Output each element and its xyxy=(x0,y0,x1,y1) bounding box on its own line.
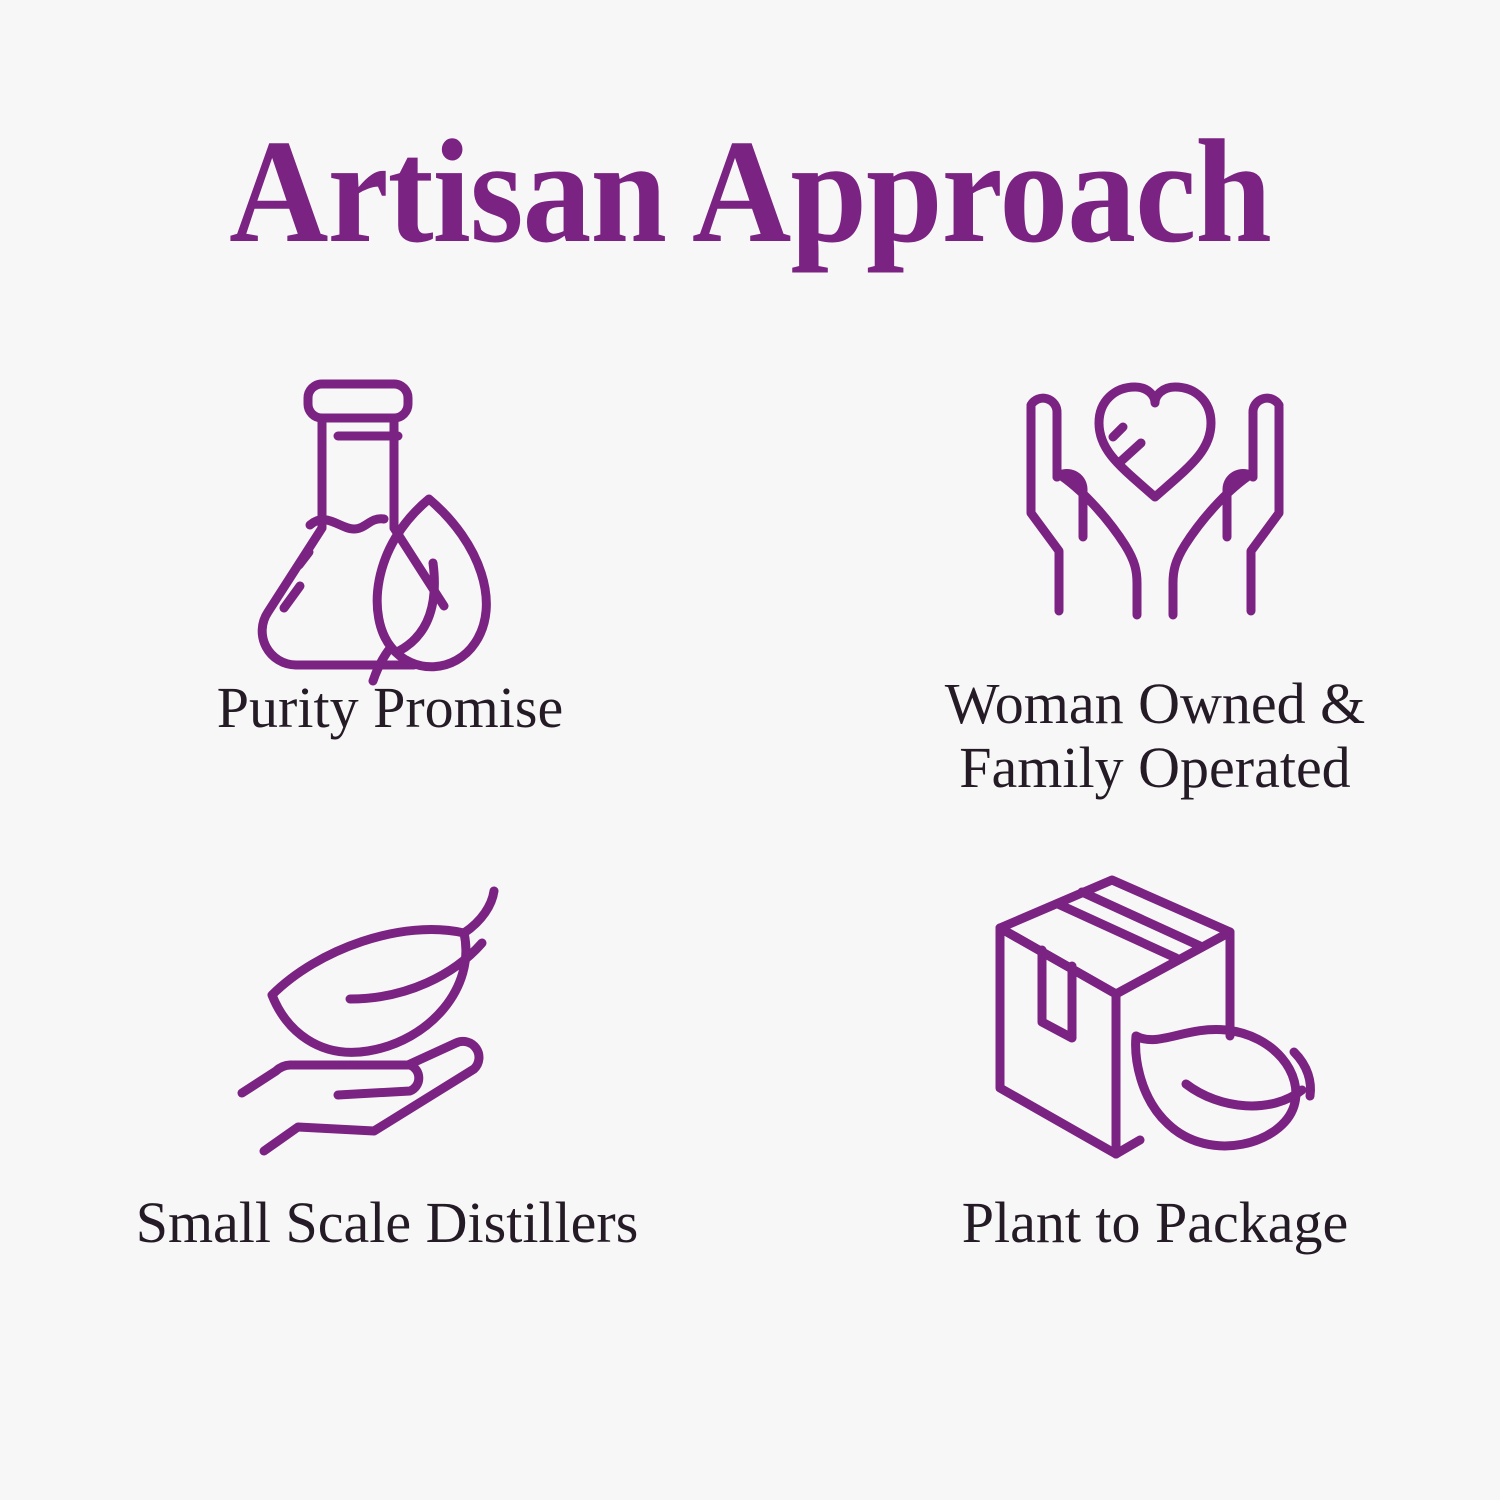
artisan-approach-panel: Artisan Approach xyxy=(0,0,1500,1500)
box-leaf-icon xyxy=(990,865,1320,1165)
feature-label-plant-to-package: Plant to Package xyxy=(962,1191,1349,1255)
leaf-in-hand-icon xyxy=(222,865,552,1165)
feature-item-purity-promise: Purity Promise xyxy=(0,350,750,865)
page-title: Artisan Approach xyxy=(53,118,1448,266)
feature-label-small-scale-distillers: Small Scale Distillers xyxy=(136,1191,639,1255)
feature-label-purity-promise: Purity Promise xyxy=(217,676,563,740)
feature-grid: Purity Promise xyxy=(0,350,1500,1380)
feature-label-woman-owned: Woman Owned & Family Operated xyxy=(945,672,1366,800)
feature-item-plant-to-package: Plant to Package xyxy=(750,865,1500,1380)
feature-item-woman-owned: Woman Owned & Family Operated xyxy=(750,350,1500,865)
feature-item-small-scale-distillers: Small Scale Distillers xyxy=(0,865,750,1380)
flask-leaf-icon xyxy=(225,350,555,650)
hands-heart-icon xyxy=(990,350,1320,650)
